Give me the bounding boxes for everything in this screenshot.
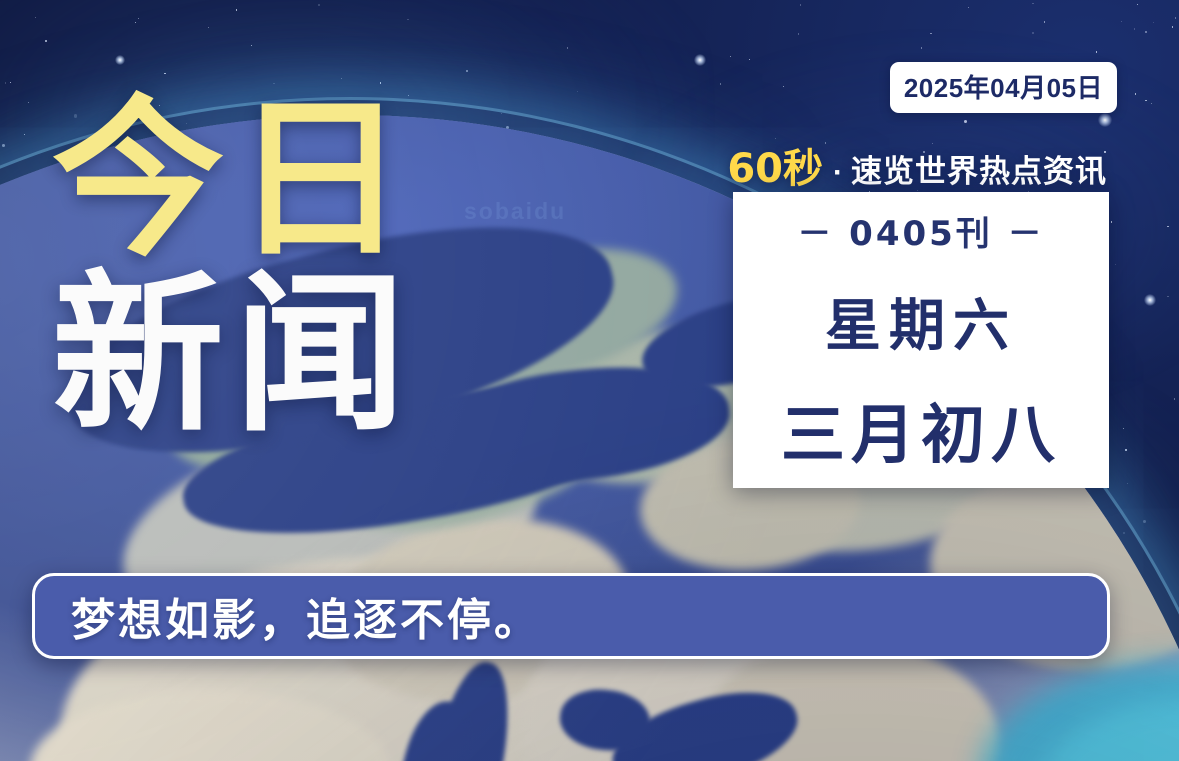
watermark-text: sobaidu — [464, 198, 566, 225]
tagline-text: 速览世界热点资讯 — [851, 146, 1107, 191]
weekday-label: 星期六 — [825, 281, 1017, 362]
quote-banner: 梦想如影，追逐不停。 — [32, 573, 1110, 659]
title-line-news: 新闻 — [52, 271, 416, 440]
issue-number: － 0405刊 － — [797, 206, 1044, 255]
title-line-today: 今日 — [52, 96, 416, 265]
date-info-card: － 0405刊 － 星期六 三月初八 — [733, 192, 1109, 488]
tagline-seconds: 60秒 — [727, 136, 823, 194]
news-poster: sobaidu 2025年04月05日 60秒 · 速览世界热点资讯 今日 新闻… — [0, 0, 1179, 761]
lunar-date-label: 三月初八 — [781, 384, 1061, 476]
quote-text: 梦想如影，追逐不停。 — [71, 584, 541, 648]
tagline: 60秒 · 速览世界热点资讯 — [727, 136, 1107, 194]
poster-title: 今日 新闻 — [52, 96, 416, 439]
tagline-separator: · — [833, 156, 843, 190]
date-badge: 2025年04月05日 — [890, 62, 1117, 113]
